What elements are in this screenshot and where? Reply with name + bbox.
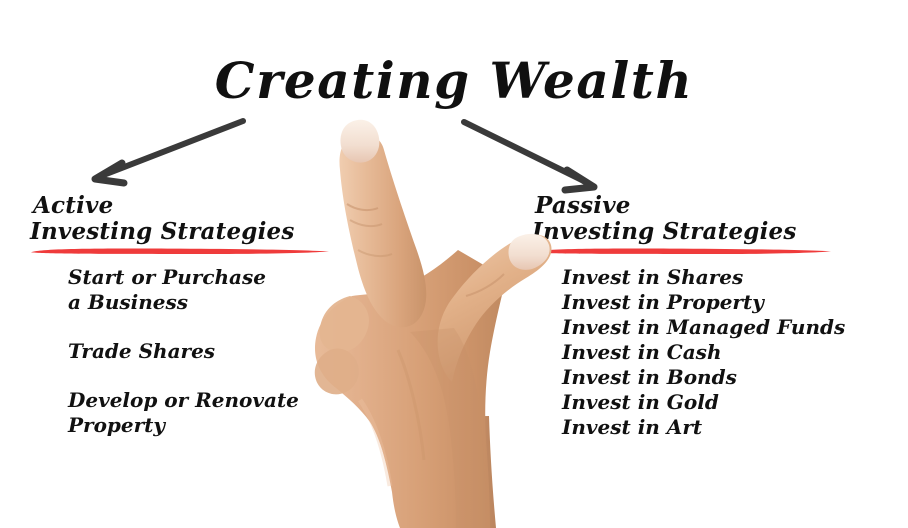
diagram-canvas: Creating Wealth Active Investing Strateg… — [0, 0, 908, 528]
list-item: Invest in Bonds — [562, 365, 904, 390]
index-fingernail — [340, 120, 379, 163]
list-item-line1: Start or Purchase — [68, 265, 266, 289]
list-active-items: Start or Purchase a Business Trade Share… — [30, 265, 340, 438]
arrow-to-passive — [464, 122, 594, 190]
index-finger — [339, 134, 426, 327]
heading-active: Active Investing Strategies — [30, 193, 340, 245]
list-item-line1: Invest in Gold — [562, 390, 719, 414]
list-item: Invest in Cash — [562, 340, 904, 365]
list-item-line1: Trade Shares — [68, 339, 215, 363]
heading-passive-line2: Investing Strategies — [532, 219, 904, 245]
list-passive-items: Invest in Shares Invest in Property Inve… — [532, 265, 904, 440]
page-title: Creating Wealth — [0, 52, 908, 110]
column-passive-strategies: Passive Investing Strategies Invest in S… — [532, 193, 904, 440]
list-item-line2: Property — [68, 413, 340, 438]
finger-crease-3 — [358, 250, 392, 256]
list-item: Invest in Shares — [562, 265, 904, 290]
palm-shading — [410, 328, 486, 528]
list-item: Invest in Managed Funds — [562, 315, 904, 340]
finger-crease-1 — [347, 204, 378, 210]
heading-passive-line1: Passive — [532, 193, 904, 219]
list-item-line1: Invest in Art — [562, 415, 702, 439]
list-item-line1: Invest in Managed Funds — [562, 315, 845, 339]
list-item-line2: a Business — [68, 290, 340, 315]
column-active-strategies: Active Investing Strategies Start or Pur… — [30, 193, 340, 438]
palm-highlight — [360, 400, 390, 486]
forearm — [374, 416, 496, 528]
red-underline-passive — [532, 247, 904, 256]
list-item-line1: Invest in Bonds — [562, 365, 737, 389]
finger-crease-2 — [350, 220, 382, 226]
list-item-line1: Develop or Renovate — [68, 388, 299, 412]
thumb-crease — [466, 274, 504, 296]
list-item-line1: Invest in Property — [562, 290, 764, 314]
arrow-to-active — [95, 121, 243, 183]
list-item: Invest in Art — [562, 415, 904, 440]
heading-active-line1: Active — [30, 193, 340, 219]
heading-active-line2: Investing Strategies — [30, 219, 340, 245]
red-underline-active — [30, 247, 340, 256]
list-item-line1: Invest in Cash — [562, 340, 721, 364]
list-item: Invest in Property — [562, 290, 904, 315]
list-item: Invest in Gold — [562, 390, 904, 415]
palm-tendon — [398, 350, 424, 460]
list-item-line1: Invest in Shares — [562, 265, 743, 289]
palm — [315, 250, 506, 528]
list-item: Trade Shares — [68, 339, 340, 364]
heading-passive: Passive Investing Strategies — [532, 193, 904, 245]
list-item: Develop or Renovate Property — [68, 388, 340, 438]
list-item: Start or Purchase a Business — [68, 265, 340, 315]
